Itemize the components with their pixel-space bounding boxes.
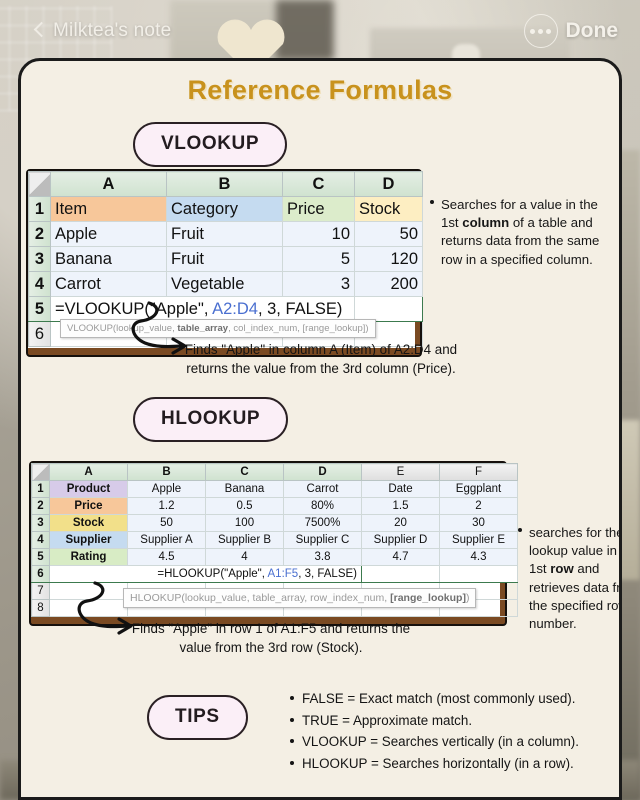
cell-b1[interactable]: Apple [128,481,206,498]
column-header-a[interactable]: A [50,464,128,481]
grid-corner[interactable] [32,464,50,481]
row-header-2[interactable]: 2 [32,498,50,515]
cell-c3[interactable]: 5 [283,247,355,272]
vlookup-pill-container: VLOOKUP [21,122,619,167]
vlookup-function-tooltip: VLOOKUP(lookup_value, table_array, col_i… [60,319,376,338]
column-header-d[interactable]: D [355,172,423,197]
formula-range-ref: A2:D4 [212,300,258,318]
tips-pill-label[interactable]: TIPS [147,695,248,740]
cell-d4[interactable]: Supplier C [284,532,362,549]
cell-c2[interactable]: 10 [283,222,355,247]
cell-c1[interactable]: Banana [206,481,284,498]
cell-c5[interactable]: 4 [206,549,284,566]
table-row: 4 Carrot Vegetable 3 200 [29,272,423,297]
cell-d2[interactable]: 50 [355,222,423,247]
row-header-5[interactable]: 5 [29,297,51,322]
tooltip-part-1: HLOOKUP(lookup_value, table_array, row_i… [130,592,390,604]
column-header-a[interactable]: A [51,172,167,197]
table-row: 2 Apple Fruit 10 50 [29,222,423,247]
cell-d5[interactable]: 3.8 [284,549,362,566]
cell-a4[interactable]: Supplier [50,532,128,549]
tooltip-bold-arg: [range_lookup] [390,592,466,604]
cell-e4[interactable]: Supplier D [362,532,440,549]
row-header-2[interactable]: 2 [29,222,51,247]
cell-d3[interactable]: 120 [355,247,423,272]
dot-1 [530,29,535,34]
cell-e1[interactable]: Date [362,481,440,498]
vlookup-sheet-frame: A B C D 1 Item Category Price Stock 2 [26,169,422,357]
column-header-b[interactable]: B [128,464,206,481]
hlookup-pill-container: HLOOKUP [21,397,288,442]
cell-d1[interactable]: Stock [355,197,423,222]
cell-a3[interactable]: Banana [51,247,167,272]
cell-c1[interactable]: Price [283,197,355,222]
cell-a3[interactable]: Stock [50,515,128,532]
column-header-e[interactable]: E [362,464,440,481]
vlookup-caption: Finds "Apple" in column A (Item) of A2:D… [171,340,471,378]
list-item: VLOOKUP = Searches vertically (in a colu… [289,731,609,753]
cell-f5[interactable]: 4.3 [440,549,518,566]
cell-b4[interactable]: Supplier A [128,532,206,549]
hlookup-function-tooltip: HLOOKUP(lookup_value, table_array, row_i… [123,588,476,608]
row-header-8[interactable]: 8 [32,600,50,617]
cell-a5[interactable]: Rating [50,549,128,566]
table-row: 3 Banana Fruit 5 120 [29,247,423,272]
hlookup-caption: Finds "Apple" in row 1 of A1:F5 and retu… [121,619,421,657]
table-row: 1 Product Apple Banana Carrot Date Eggpl… [32,481,518,498]
done-control-group[interactable]: Done [524,14,619,48]
cell-b3[interactable]: 50 [128,515,206,532]
cell-a1[interactable]: Product [50,481,128,498]
table-row: 4 Supplier Supplier A Supplier B Supplie… [32,532,518,549]
table-row: 3 Stock 50 100 7500% 20 30 [32,515,518,532]
row-header-6[interactable]: 6 [29,322,51,347]
cell-b2[interactable]: 1.2 [128,498,206,515]
vlookup-formula-cell[interactable]: =VLOOKUP("Apple", A2:D4, 3, FALSE) [51,297,355,322]
vlookup-spreadsheet[interactable]: A B C D 1 Item Category Price Stock 2 [26,169,422,357]
cell-a2[interactable]: Apple [51,222,167,247]
cell-a2[interactable]: Price [50,498,128,515]
page-title: Reference Formulas [21,75,619,106]
formula-part-2: , 3, FALSE) [258,300,342,318]
note-card: Reference Formulas VLOOKUP A B C D [18,58,622,800]
cell-f4[interactable]: Supplier E [440,532,518,549]
tips-list: FALSE = Exact match (most commonly used)… [289,688,609,775]
list-item: HLOOKUP = Searches horizontally (in a ro… [289,753,609,775]
column-header-d[interactable]: D [284,464,362,481]
cell-d5[interactable] [355,297,423,322]
formula-row: 6 =HLOOKUP("Apple", A1:F5, 3, FALSE) [32,566,518,583]
vlookup-pill-label[interactable]: VLOOKUP [133,122,287,167]
row-header-3[interactable]: 3 [29,247,51,272]
row-header-1[interactable]: 1 [32,481,50,498]
cell-c4[interactable]: Supplier B [206,532,284,549]
cell-d3[interactable]: 7500% [284,515,362,532]
chevron-left-icon [34,20,46,42]
formula-part-2: , 3, FALSE) [298,568,357,580]
formula-part-1: =HLOOKUP("Apple", [157,568,267,580]
hlookup-formula-cell[interactable]: =HLOOKUP("Apple", A1:F5, 3, FALSE) [50,566,362,583]
navigation-bar: Milktea's note Done [0,0,640,62]
cell-d4[interactable]: 200 [355,272,423,297]
row-header-7[interactable]: 7 [32,583,50,600]
table-row: 5 Rating 4.5 4 3.8 4.7 4.3 [32,549,518,566]
done-button-label[interactable]: Done [566,19,619,43]
cell-f3[interactable]: 30 [440,515,518,532]
tooltip-part-2: , col_index_num, [range_lookup]) [228,323,368,334]
hlookup-desc-bold: row [550,561,573,576]
column-header-row: A B C D [29,172,423,197]
cell-e3[interactable]: 20 [362,515,440,532]
column-header-c[interactable]: C [283,172,355,197]
dot-3 [546,29,551,34]
cell-a1[interactable]: Item [51,197,167,222]
cell-a4[interactable]: Carrot [51,272,167,297]
grid-corner[interactable] [29,172,51,197]
cell-c2[interactable]: 0.5 [206,498,284,515]
cell-f2[interactable]: 2 [440,498,518,515]
dot-2 [538,29,543,34]
cell-b3[interactable]: Fruit [167,247,283,272]
cell-e2[interactable]: 1.5 [362,498,440,515]
cell-d1[interactable]: Carrot [284,481,362,498]
cell-f6[interactable] [440,566,518,583]
cell-c4[interactable]: 3 [283,272,355,297]
vlookup-desc-bold: column [462,215,509,230]
column-header-row: A B C D E F [32,464,518,481]
cell-b2[interactable]: Fruit [167,222,283,247]
row-header-5[interactable]: 5 [32,549,50,566]
back-button-label: Milktea's note [53,20,171,42]
table-row: 2 Price 1.2 0.5 80% 1.5 2 [32,498,518,515]
hlookup-description: searches for the lookup value in the 1st… [529,524,622,633]
row-header-6[interactable]: 6 [32,566,50,583]
formula-range-ref: A1:F5 [268,568,299,580]
list-item: FALSE = Exact match (most commonly used)… [289,688,609,710]
tooltip-part-2: ) [466,592,470,604]
row-header-1[interactable]: 1 [29,197,51,222]
bullet-icon [518,528,522,532]
cell-d2[interactable]: 80% [284,498,362,515]
row-header-3[interactable]: 3 [32,515,50,532]
hlookup-pill-label[interactable]: HLOOKUP [133,397,288,442]
cell-b1[interactable]: Category [167,197,283,222]
cell-e5[interactable]: 4.7 [362,549,440,566]
vlookup-description: Searches for a value in the 1st column o… [441,196,609,269]
cell-f1[interactable]: Eggplant [440,481,518,498]
tips-pill-container: TIPS [147,695,248,740]
cell-e6[interactable] [362,566,440,583]
bullet-icon [430,200,434,204]
back-button[interactable]: Milktea's note [34,20,171,42]
list-item: TRUE = Approximate match. [289,710,609,732]
row-header-4[interactable]: 4 [29,272,51,297]
more-dots-icon[interactable] [524,14,558,48]
formula-row: 5 =VLOOKUP("Apple", A2:D4, 3, FALSE) [29,297,423,322]
vlookup-sheet[interactable]: A B C D 1 Item Category Price Stock 2 [28,171,415,348]
row-header-4[interactable]: 4 [32,532,50,549]
column-header-f[interactable]: F [440,464,518,481]
column-header-b[interactable]: B [167,172,283,197]
cell-b5[interactable]: 4.5 [128,549,206,566]
cell-c3[interactable]: 100 [206,515,284,532]
column-header-c[interactable]: C [206,464,284,481]
cell-b4[interactable]: Vegetable [167,272,283,297]
table-row: 1 Item Category Price Stock [29,197,423,222]
